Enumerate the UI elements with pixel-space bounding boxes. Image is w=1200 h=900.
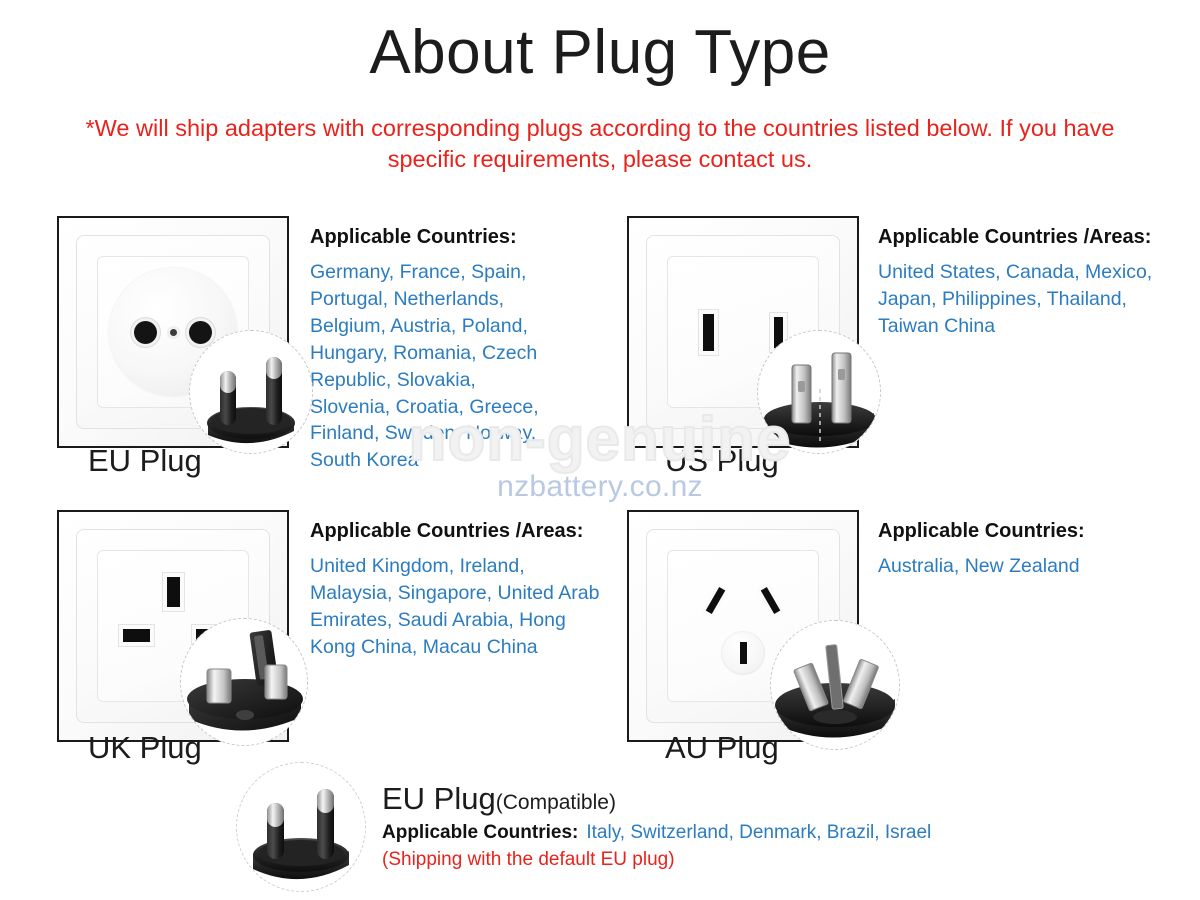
countries-list-us: United States, Canada, Mexico, Japan, Ph…: [878, 259, 1158, 340]
plug-label-au: AU Plug: [665, 730, 779, 766]
eu-center-dot: [170, 329, 177, 336]
countries-heading-au: Applicable Countries:: [878, 520, 1158, 543]
compatible-title: EU Plug(Compatible): [382, 783, 931, 814]
countries-list-au: Australia, New Zealand: [878, 553, 1158, 580]
eu-compatible-plug-photo-icon: [236, 762, 366, 892]
au-plug-drawing-icon: [771, 621, 899, 749]
us-plug-drawing-icon: [758, 331, 880, 453]
page-subtitle-note: *We will ship adapters with correspondin…: [60, 113, 1140, 176]
countries-heading-eu: Applicable Countries:: [310, 226, 560, 249]
au-slot-left: [706, 587, 726, 614]
plug-label-eu: EU Plug: [88, 443, 202, 479]
eu-hole-left: [134, 321, 157, 344]
page-title: About Plug Type: [0, 20, 1200, 85]
uk-plug-photo-icon: [180, 618, 308, 746]
compatible-countries-line: Applicable Countries:Italy, Switzerland,…: [382, 822, 931, 844]
uk-plug-drawing-icon: [181, 619, 307, 745]
eu-hole-right: [189, 321, 212, 344]
compatible-block: EU Plug(Compatible) Applicable Countries…: [382, 783, 931, 871]
us-slot-left: [703, 314, 714, 351]
uk-earth-slot: [167, 577, 180, 607]
plug-label-uk: UK Plug: [88, 730, 202, 766]
au-earth-recess: [721, 631, 765, 675]
eu-plug-photo-icon: [189, 330, 313, 454]
countries-block-us: Applicable Countries /Areas: United Stat…: [878, 226, 1158, 340]
countries-block-uk: Applicable Countries /Areas: United King…: [310, 520, 610, 661]
countries-block-eu: Applicable Countries: Germany, France, S…: [310, 226, 560, 474]
compatible-countries-label: Applicable Countries:: [382, 822, 578, 843]
infographic-page: About Plug Type *We will ship adapters w…: [0, 0, 1200, 900]
eu-plug-drawing-icon: [190, 331, 312, 453]
eu-compatible-plug-drawing-icon: [237, 763, 365, 891]
compatible-title-suffix: (Compatible): [496, 791, 616, 814]
au-earth-slot: [740, 642, 747, 664]
countries-heading-uk: Applicable Countries /Areas:: [310, 520, 610, 543]
compatible-countries-list: Italy, Switzerland, Denmark, Brazil, Isr…: [586, 822, 931, 843]
au-slot-right: [761, 587, 781, 614]
compatible-shipping-note: (Shipping with the default EU plug): [382, 849, 931, 871]
compatible-title-main: EU Plug: [382, 781, 496, 816]
uk-slot-left: [123, 629, 150, 642]
au-plug-photo-icon: [770, 620, 900, 750]
countries-list-uk: United Kingdom, Ireland, Malaysia, Singa…: [310, 553, 610, 661]
countries-block-au: Applicable Countries: Australia, New Zea…: [878, 520, 1158, 580]
countries-list-eu: Germany, France, Spain, Portugal, Nether…: [310, 259, 560, 474]
us-plug-photo-icon: [757, 330, 881, 454]
plug-label-us: US Plug: [665, 443, 779, 479]
countries-heading-us: Applicable Countries /Areas:: [878, 226, 1158, 249]
